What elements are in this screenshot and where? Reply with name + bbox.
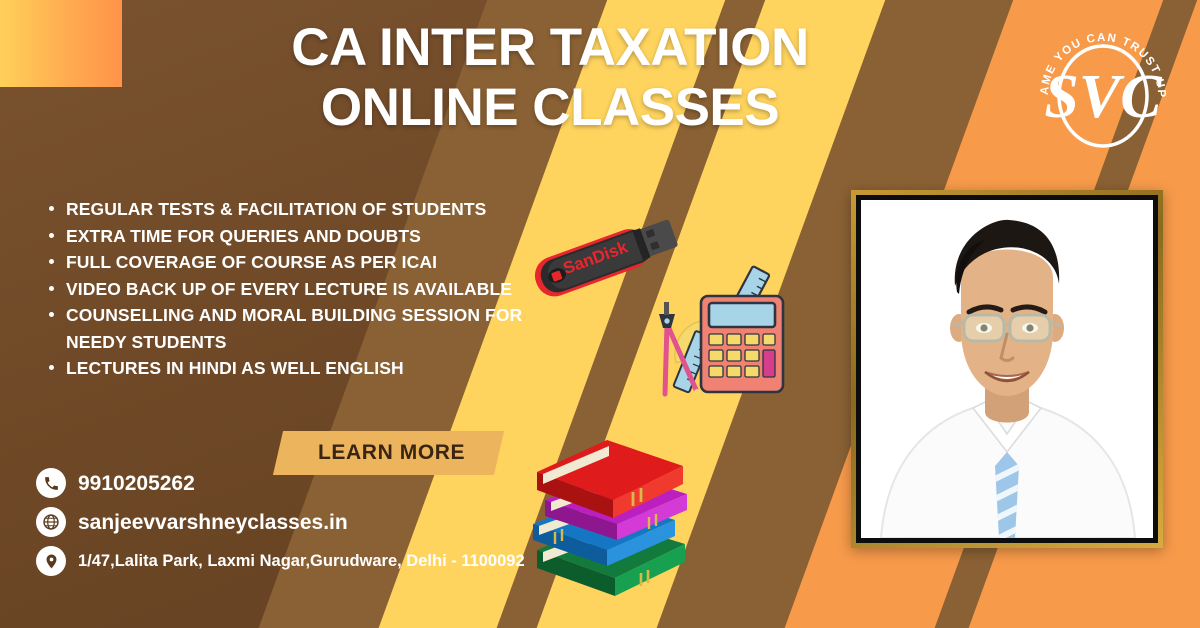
website-url: sanjeevvarshneyclasses.in [78,507,348,535]
avatar [861,200,1153,538]
contact-address: 1/47,Lalita Park, Laxmi Nagar,Gurudware,… [36,546,536,576]
svc-logo: A NAME YOU CAN TRUST UPON SVC [1028,14,1178,164]
list-item: LECTURES IN HINDI AS WELL ENGLISH [40,355,540,382]
learn-more-label: LEARN MORE [318,441,465,465]
calculator-icon [701,296,783,392]
instructor-portrait-frame [851,190,1163,548]
logo-monogram-text: SVC [1044,63,1162,131]
title-line-1: CA INTER TAXATION [230,18,870,78]
list-item: EXTRA TIME FOR QUERIES AND DOUBTS [40,223,540,250]
contact-phone[interactable]: 9910205262 [36,468,536,498]
page-title: CA INTER TAXATION ONLINE CLASSES [230,18,870,138]
phone-icon [36,468,66,498]
phone-number: 9910205262 [78,468,195,496]
list-item: VIDEO BACK UP OF EVERY LECTURE IS AVAILA… [40,276,540,303]
promo-banner: CA INTER TAXATION ONLINE CLASSES REGULAR… [0,0,1200,628]
contact-website[interactable]: sanjeevvarshneyclasses.in [36,507,536,537]
list-item: REGULAR TESTS & FACILITATION OF STUDENTS [40,196,540,223]
contact-block: 9910205262 sanjeevvarshneyclasses.in [36,468,536,585]
address-text: 1/47,Lalita Park, Laxmi Nagar,Gurudware,… [78,546,525,572]
book-stack-graphic [515,432,700,607]
location-pin-icon [36,546,66,576]
list-item: FULL COVERAGE OF COURSE AS PER ICAI [40,249,540,276]
list-item: COUNSELLING AND MORAL BUILDING SESSION F… [40,302,540,355]
stationery-graphic [645,258,795,413]
portrait-inner-border [856,195,1158,543]
globe-icon [36,507,66,537]
title-line-2: ONLINE CLASSES [230,78,870,138]
feature-list: REGULAR TESTS & FACILITATION OF STUDENTS… [40,196,540,382]
corner-accent-block [0,0,122,87]
